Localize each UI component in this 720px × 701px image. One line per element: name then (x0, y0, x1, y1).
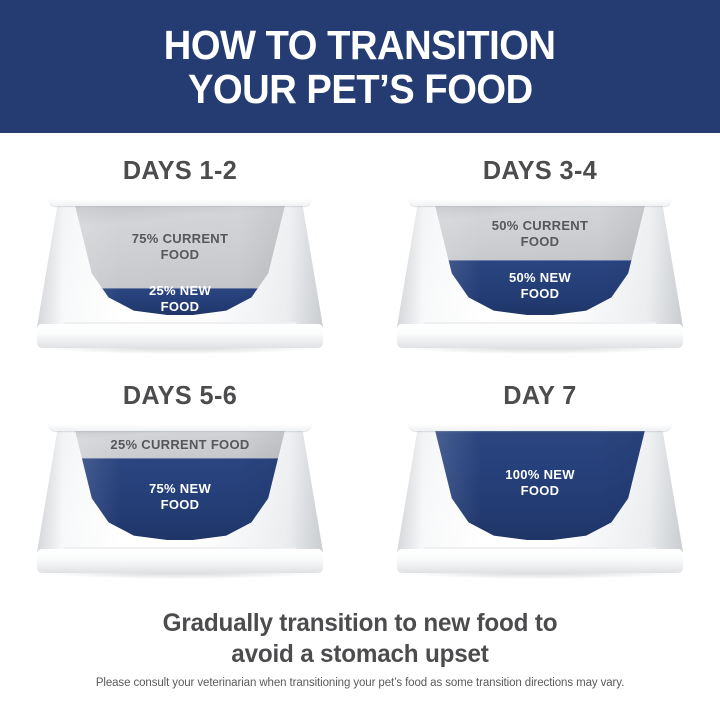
step-title: DAYS 3-4 (365, 155, 714, 186)
new-food-label: 75% NEW FOOD (37, 481, 323, 513)
transition-step-days-3-4: DAYS 3-4 50% CURRENT FOOD 50% NEW FOOD (360, 133, 720, 367)
bowl-base (397, 549, 683, 573)
bowl-base (397, 324, 683, 348)
header-title-line-2: YOUR PET’S FOOD (188, 67, 533, 111)
new-food-label-line-2: FOOD (397, 483, 683, 499)
new-food-label: 50% NEW FOOD (397, 270, 683, 302)
new-food-label-line-1: 50% NEW (397, 270, 683, 286)
step-title: DAYS 1-2 (5, 155, 354, 186)
disclaimer-text: Please consult your veterinarian when tr… (0, 676, 720, 691)
header-title-line-1: HOW TO TRANSITION (164, 23, 556, 67)
bowl-rim (409, 418, 671, 431)
food-bowl: 100% NEW FOOD (397, 418, 683, 573)
new-food-label-line-2: FOOD (37, 299, 323, 315)
transition-step-days-1-2: DAYS 1-2 75% CURRENT FOOD 25% NEW FOOD (0, 133, 360, 367)
bowl-base (37, 549, 323, 573)
new-food-label-line-1: 75% NEW (37, 481, 323, 497)
new-food-label-line-2: FOOD (397, 286, 683, 302)
transition-step-days-5-6: DAYS 5-6 25% CURRENT FOOD 75% NEW FOOD (0, 358, 360, 592)
step-title: DAYS 5-6 (5, 380, 354, 411)
bowl-rim (49, 193, 311, 206)
tagline-line-2: avoid a stomach upset (11, 639, 709, 670)
new-food-label: 25% NEW FOOD (37, 283, 323, 315)
tagline: Gradually transition to new food to avoi… (11, 608, 709, 670)
infographic-page: HOW TO TRANSITION YOUR PET’S FOOD DAYS 1… (0, 0, 720, 701)
current-food-label-line-1: 50% CURRENT (397, 218, 683, 234)
current-food-label-line-2: FOOD (37, 247, 323, 263)
new-food-label-line-1: 25% NEW (37, 283, 323, 299)
current-food-label: 75% CURRENT FOOD (37, 231, 323, 263)
transition-step-day-7: DAY 7 100% NEW FOOD (360, 358, 720, 592)
bowl-base (37, 324, 323, 348)
step-title: DAY 7 (365, 380, 714, 411)
header-banner: HOW TO TRANSITION YOUR PET’S FOOD (0, 0, 720, 133)
current-food-label-line-2: FOOD (397, 234, 683, 250)
tagline-line-1: Gradually transition to new food to (11, 608, 709, 639)
bowl-rim (409, 193, 671, 206)
food-bowl: 75% CURRENT FOOD 25% NEW FOOD (37, 193, 323, 348)
food-bowl: 25% CURRENT FOOD 75% NEW FOOD (37, 418, 323, 573)
new-food-label-line-1: 100% NEW (397, 467, 683, 483)
bowl-rim (49, 418, 311, 431)
food-bowl: 50% CURRENT FOOD 50% NEW FOOD (397, 193, 683, 348)
current-food-label: 25% CURRENT FOOD (37, 437, 323, 453)
new-food-label-line-2: FOOD (37, 497, 323, 513)
new-food-label: 100% NEW FOOD (397, 467, 683, 499)
current-food-label-line-1: 25% CURRENT FOOD (37, 437, 323, 453)
current-food-label-line-1: 75% CURRENT (37, 231, 323, 247)
current-food-label: 50% CURRENT FOOD (397, 218, 683, 250)
transition-steps-grid: DAYS 1-2 75% CURRENT FOOD 25% NEW FOOD (0, 133, 720, 601)
